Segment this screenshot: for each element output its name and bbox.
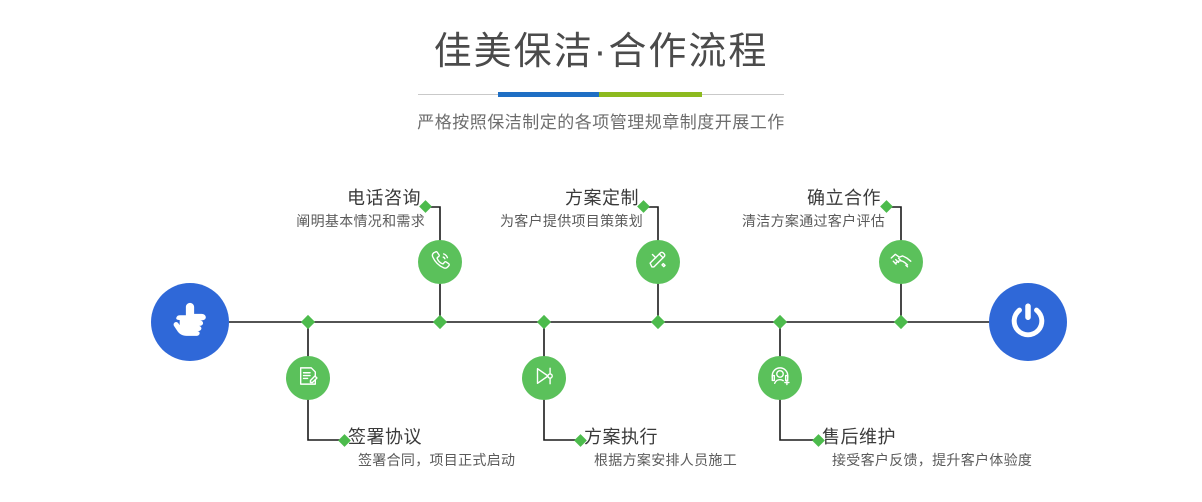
step-label-5: 方案执行 根据方案安排人员施工	[580, 425, 840, 471]
step-desc: 清洁方案通过客户评估	[640, 210, 885, 232]
step-desc: 根据方案安排人员施工	[580, 449, 840, 471]
end-endpoint[interactable]	[989, 283, 1067, 361]
step-desc: 签署合同，项目正式启动	[344, 449, 604, 471]
step-title: 方案定制	[400, 186, 643, 210]
step-title: 电话咨询	[180, 186, 425, 210]
step-icon-phone-call[interactable]	[418, 240, 462, 284]
phone-call-icon	[427, 247, 453, 278]
step-label-6: 售后维护 接受客户反馈，提升客户体验度	[818, 425, 1098, 471]
step-icon-play-next[interactable]	[522, 356, 566, 400]
step-desc: 接受客户反馈，提升客户体验度	[818, 449, 1098, 471]
page-subtitle: 严格按照保洁制定的各项管理规章制度开展工作	[0, 111, 1202, 135]
page-header: 佳美保洁·合作流程 严格按照保洁制定的各项管理规章制度开展工作	[0, 26, 1202, 135]
step-label-1: 电话咨询 阐明基本情况和需求	[180, 186, 425, 232]
divider-segment-blue	[498, 92, 599, 97]
step-label-2: 方案定制 为客户提供项目策策划	[400, 186, 643, 232]
power-icon	[1006, 298, 1050, 347]
step-title: 签署协议	[344, 425, 604, 449]
step-icon-handshake[interactable]	[879, 240, 923, 284]
step-title: 售后维护	[818, 425, 1098, 449]
start-endpoint[interactable]	[151, 283, 229, 361]
headset-add-icon	[767, 363, 793, 394]
label-markers	[338, 200, 893, 447]
step-label-3: 确立合作 清洁方案通过客户评估	[640, 186, 885, 232]
timeline-marker	[773, 315, 787, 329]
timeline-marker	[651, 315, 665, 329]
divider-segment-green	[599, 92, 702, 97]
document-edit-icon	[295, 363, 321, 394]
step-title: 方案执行	[580, 425, 840, 449]
step-icon-headset-add[interactable]	[758, 356, 802, 400]
pencils-icon	[645, 247, 671, 278]
step-icon-pencils[interactable]	[636, 240, 680, 284]
timeline-marker	[433, 315, 447, 329]
flowchart-page: 佳美保洁·合作流程 严格按照保洁制定的各项管理规章制度开展工作	[0, 0, 1202, 502]
step-title: 确立合作	[640, 186, 885, 210]
step-desc: 为客户提供项目策策划	[400, 210, 643, 232]
timeline-marker	[537, 315, 551, 329]
timeline-markers	[301, 315, 908, 329]
timeline-marker	[894, 315, 908, 329]
title-divider	[418, 89, 784, 101]
handshake-icon	[888, 247, 914, 278]
page-title: 佳美保洁·合作流程	[0, 26, 1202, 78]
step-label-4: 签署协议 签署合同，项目正式启动	[344, 425, 604, 471]
timeline-marker	[301, 315, 315, 329]
step-icon-document-edit[interactable]	[286, 356, 330, 400]
step-desc: 阐明基本情况和需求	[180, 210, 425, 232]
pointing-hand-icon	[168, 298, 212, 347]
play-next-icon	[531, 363, 557, 394]
